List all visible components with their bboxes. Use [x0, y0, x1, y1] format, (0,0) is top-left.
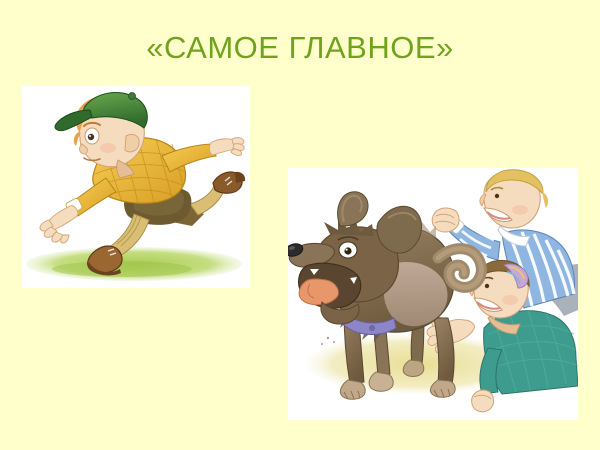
running-boy-illustration: [22, 86, 250, 288]
page-title: «САМОЕ ГЛАВНОЕ»: [0, 30, 600, 66]
barking-dog-artwork: [288, 168, 578, 420]
barking-dog-and-boys-illustration: [288, 168, 578, 420]
running-boy-artwork: [22, 86, 250, 288]
slide-canvas: «САМОЕ ГЛАВНОЕ»: [0, 0, 600, 450]
